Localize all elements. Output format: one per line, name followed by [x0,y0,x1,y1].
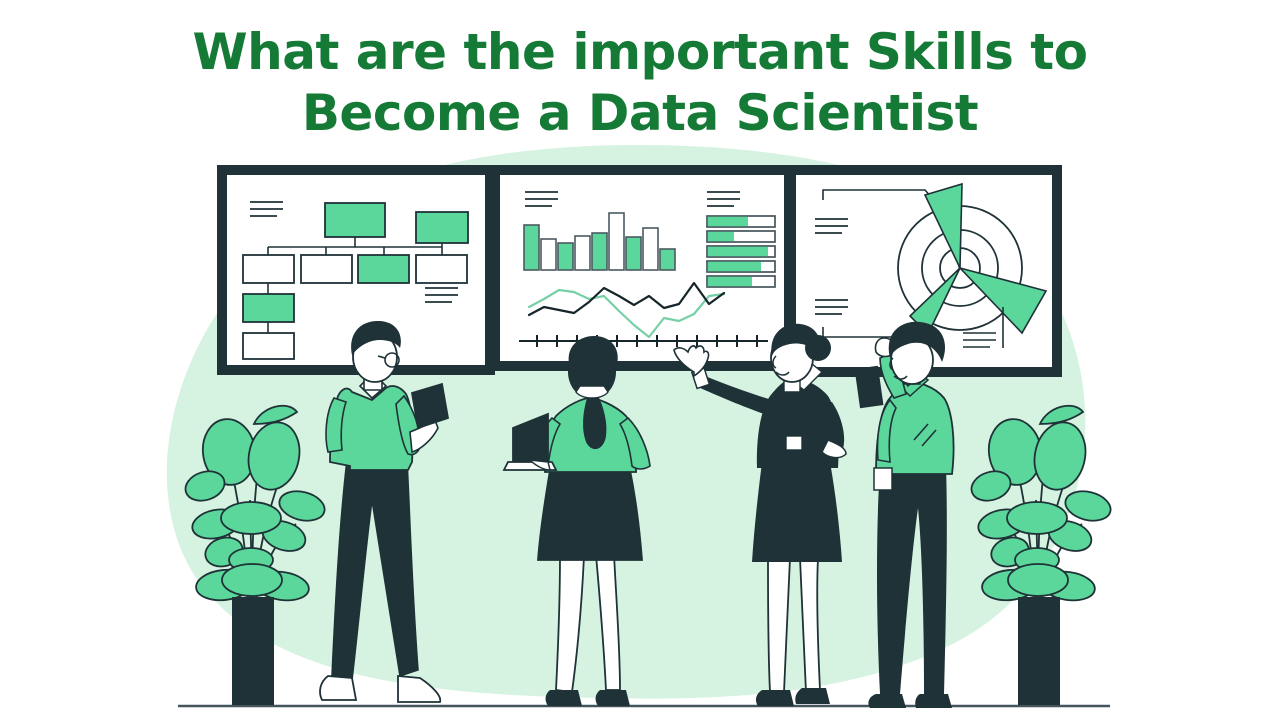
illustration-stage: What are the important Skills to Become … [0,0,1280,720]
bar-3 [558,243,573,270]
screen-dashboard[interactable] [495,170,789,366]
person-2-shoe-left [546,690,582,706]
flowchart-node-root [325,203,385,237]
progress-fill-3 [707,246,768,257]
progress-fill-1 [707,216,748,227]
bar-1 [524,225,539,270]
flowchart-node-aux [416,212,468,243]
person-2-collar [576,386,608,398]
person-2-skirt [538,470,642,560]
bar-4 [575,236,590,270]
bar-6 [609,213,624,270]
bar-2 [541,239,556,270]
bar-5 [592,233,607,270]
plant-left-pot [232,597,274,705]
progress-fill-4 [707,261,761,272]
flowchart-node-leaf2 [243,333,294,359]
progress-fill-5 [707,276,752,287]
bar-8 [643,228,658,270]
person-3-cuff-right [786,436,802,450]
person-4-cuff [874,468,892,490]
flowchart-node-child3 [358,255,409,283]
progress-fill-2 [707,231,734,242]
person-3-hair-bun [805,335,831,361]
person-4-shoe-right [915,694,952,708]
person-2-shoe-right [596,690,630,706]
flowchart-node-child2 [301,255,352,283]
person-3-skirt [752,462,842,562]
bar-7 [626,237,641,270]
person-3-shoe-left [756,690,794,706]
person-3-shoe-right [795,688,830,704]
plant-right-pot [1018,597,1060,705]
progress-bars [707,216,775,287]
flowchart-node-child1 [243,255,294,283]
person-4-phone [855,367,882,408]
person-1-shoe-left [320,676,356,700]
illustration-scene [0,0,1280,720]
person-4-shoe-left [868,694,906,708]
flowchart-node-leaf1 [243,294,294,322]
bar-9 [660,249,675,270]
flowchart-node-child4 [416,255,467,283]
